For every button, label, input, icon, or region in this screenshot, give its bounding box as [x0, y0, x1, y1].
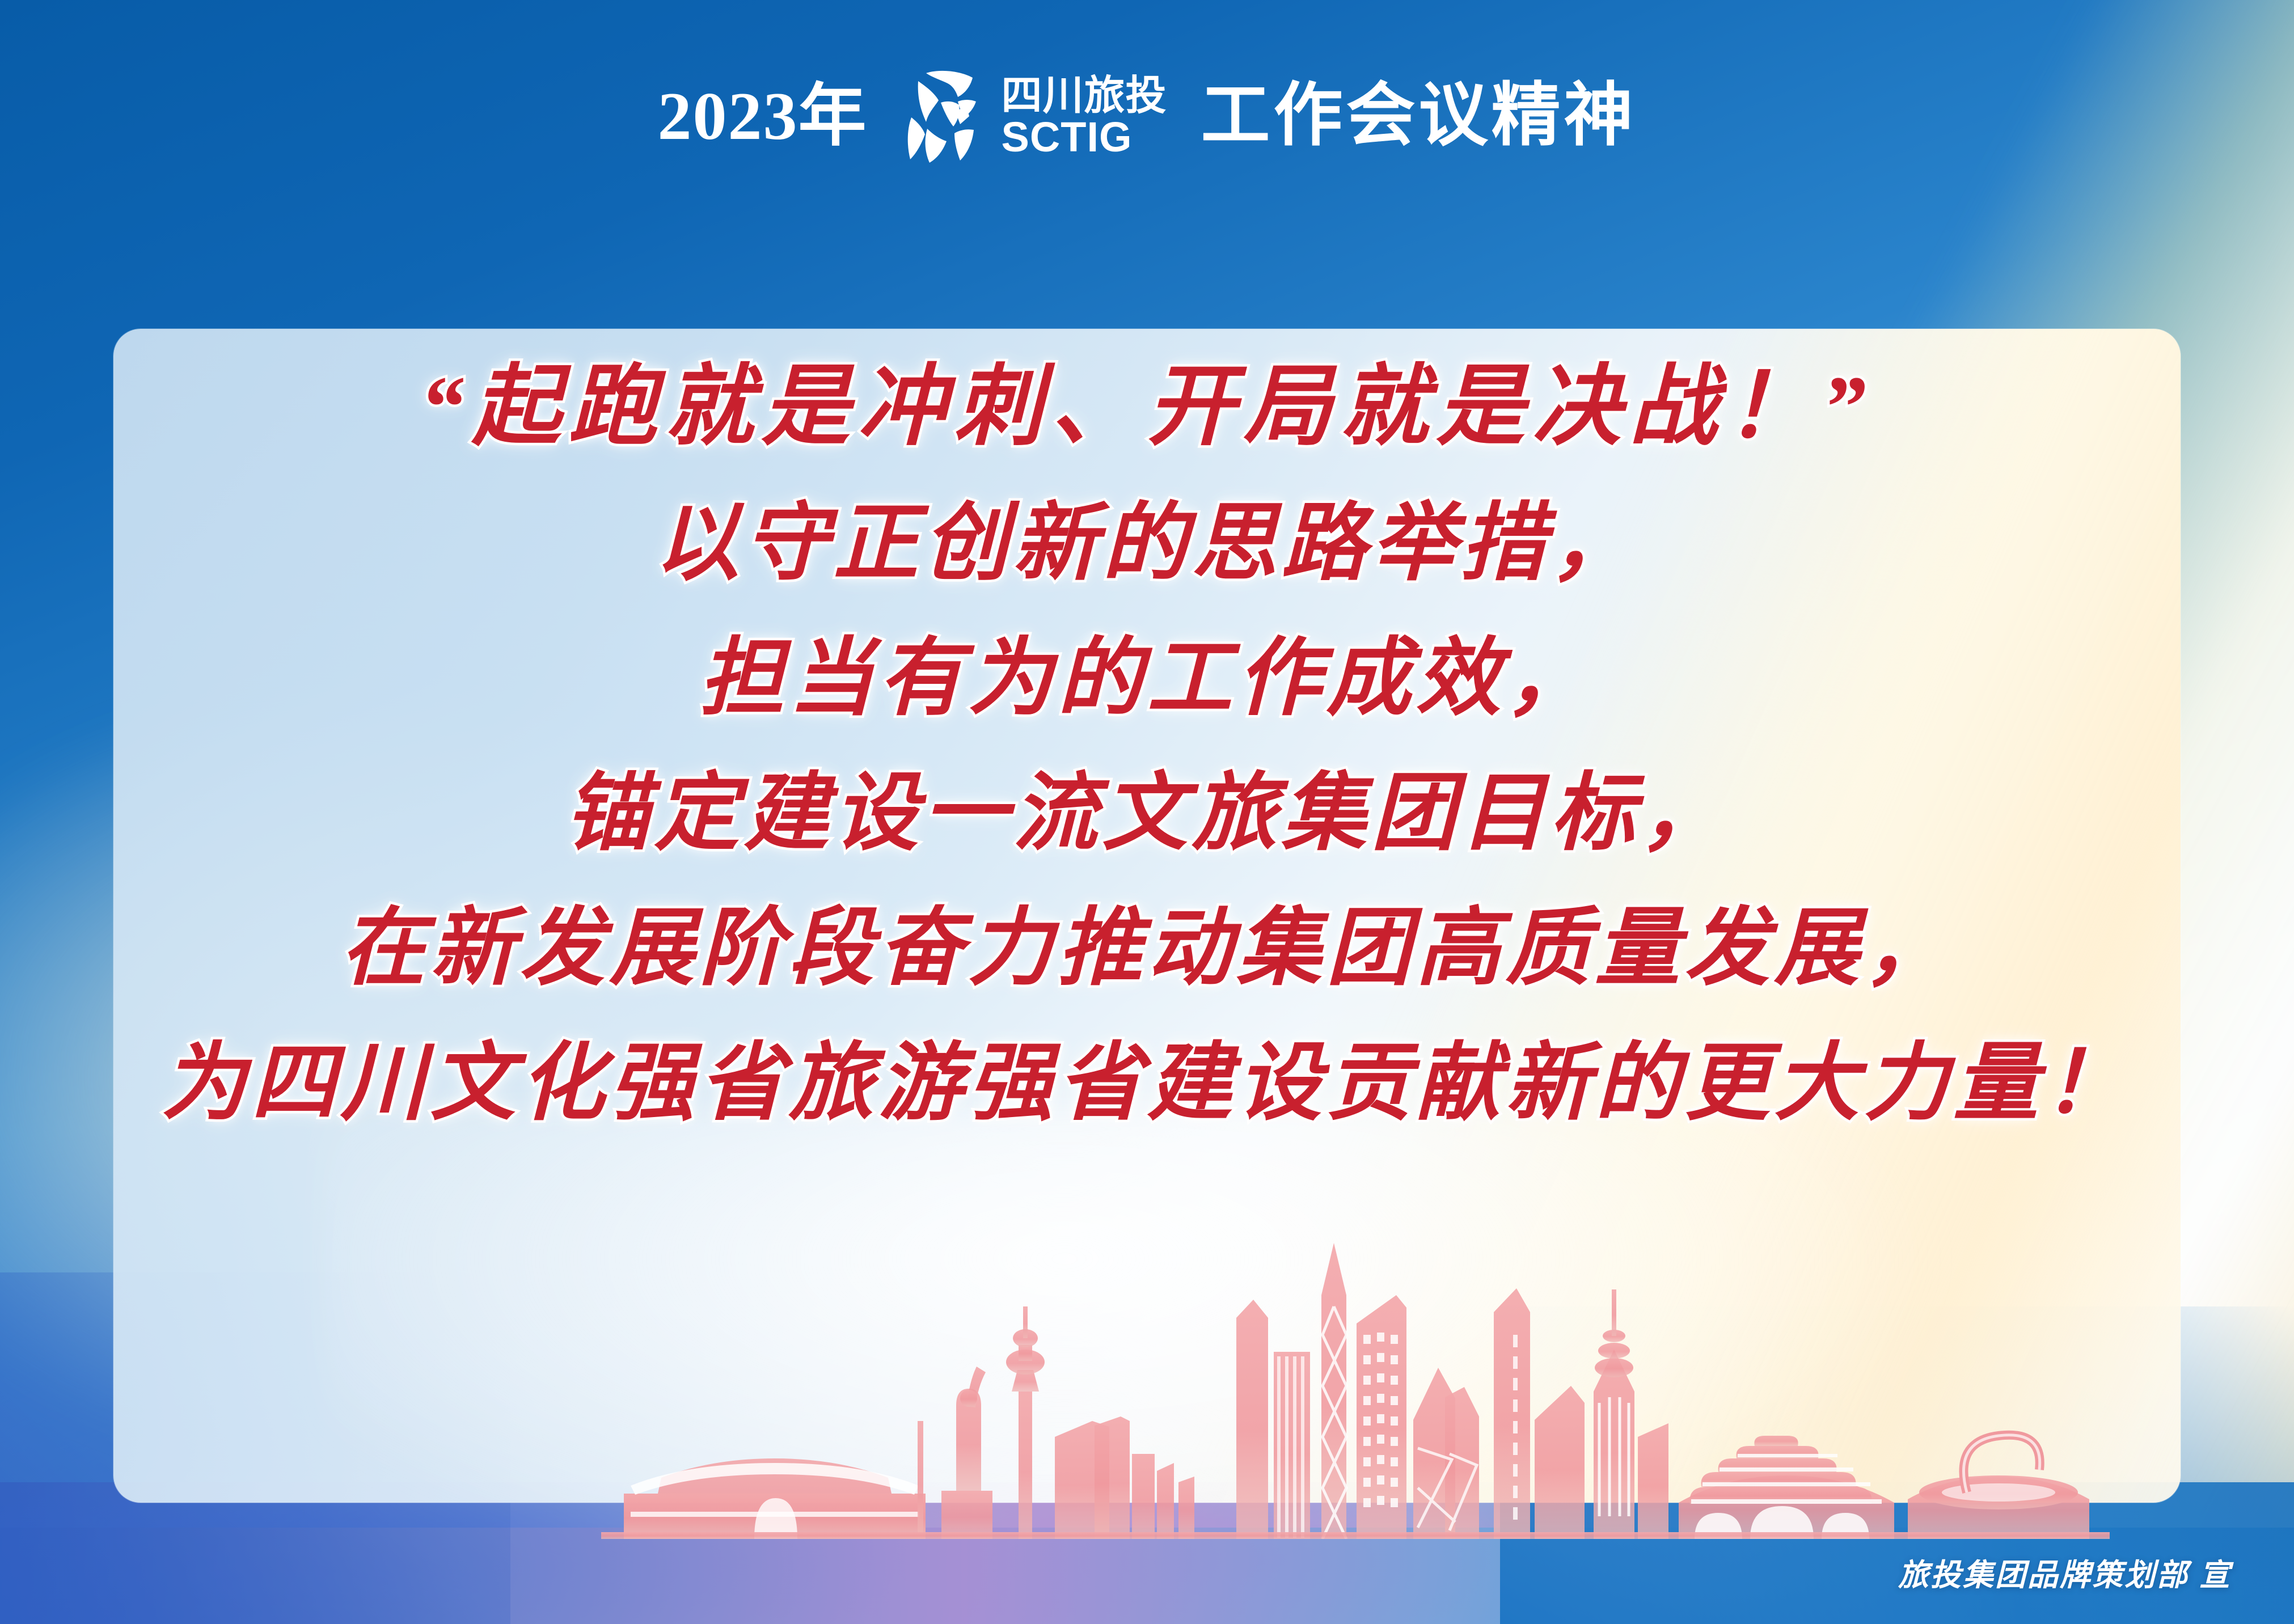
sctig-globe-logo-icon — [901, 70, 986, 163]
footer-credit-text: 旅投集团品牌策划部 宣 — [1898, 1550, 2232, 1595]
card-bottom-glow — [320, 1106, 1974, 1503]
poster-header: 2023年 四川旅投 SC — [0, 62, 2294, 170]
footer-credit: 旅投集团品牌策划部 宣 — [1898, 1550, 2232, 1595]
brand-logo-wordmark: 四川旅投 SCTIG — [1001, 75, 1167, 157]
header-title: 工作会议精神 — [1201, 82, 1637, 151]
poster-canvas: 2023年 四川旅投 SC — [0, 0, 2294, 1624]
content-card-panel — [113, 329, 2181, 1503]
brand-name-en: SCTIG — [1001, 117, 1132, 157]
header-year: 2023年 — [657, 82, 867, 150]
brand-logo-lockup: 四川旅投 SCTIG — [901, 70, 1167, 163]
brand-name-cn: 四川旅投 — [1001, 75, 1167, 116]
